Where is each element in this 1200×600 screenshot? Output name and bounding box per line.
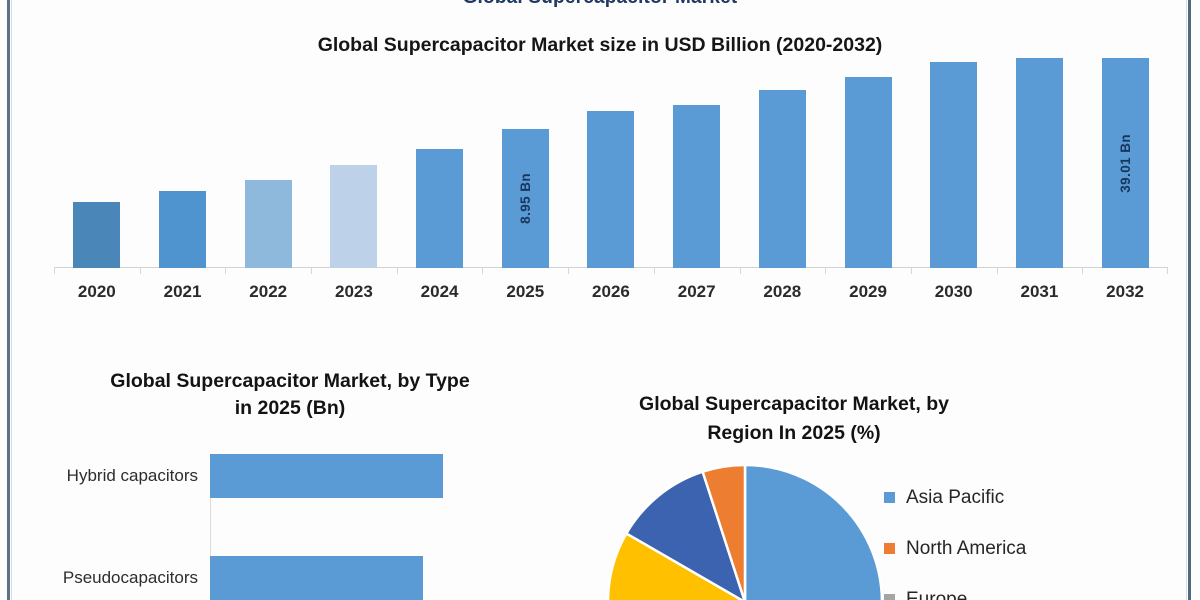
x-axis-label-2022: 2022: [225, 282, 311, 302]
legend-swatch-icon: [884, 543, 895, 554]
x-tick-2024: [397, 268, 483, 274]
bar-2031: [1016, 58, 1063, 268]
market-by-type-chart: Global Supercapacitor Market, by Type in…: [14, 368, 574, 600]
x-axis-label-2020: 2020: [54, 282, 140, 302]
legend-swatch-icon: [884, 492, 895, 503]
bar-column-2029: [825, 58, 911, 268]
legend-label: North America: [906, 538, 1026, 560]
legend-swatch-icon: [884, 594, 895, 600]
x-axis-label-2024: 2024: [397, 282, 483, 302]
market-by-region-chart: Global Supercapacitor Market, by Region …: [574, 368, 1186, 600]
slide-root: Global Supercapacitor Market Global Supe…: [0, 0, 1200, 600]
market-size-bar-chart: Global Supercapacitor Market size in USD…: [14, 22, 1186, 342]
slide-heading-cropped: Global Supercapacitor Market: [0, 0, 1200, 9]
bar-column-2024: [397, 58, 483, 268]
type-bar-row: Pseudocapacitors: [14, 556, 566, 600]
bar-column-2028: [740, 58, 826, 268]
bar-chart-plot-area: 8.95 Bn39.01 Bn 202020212022202320242025…: [54, 58, 1168, 296]
type-chart-title: Global Supercapacitor Market, by Type in…: [14, 368, 566, 422]
type-chart-title-line2: in 2025 (Bn): [14, 395, 566, 422]
x-tick-2031: [997, 268, 1083, 274]
region-pie-legend: Asia PacificNorth AmericaEurope: [884, 472, 1184, 600]
region-chart-title: Global Supercapacitor Market, by Region …: [584, 390, 1004, 448]
x-axis-label-2026: 2026: [568, 282, 654, 302]
x-tick-2021: [140, 268, 226, 274]
x-tick-2029: [825, 268, 911, 274]
type-chart-plot-area: Hybrid capacitorsPseudocapacitors: [14, 454, 566, 600]
legend-item-north-america[interactable]: North America: [884, 523, 1184, 574]
x-axis-label-2027: 2027: [654, 282, 740, 302]
legend-label: Asia Pacific: [906, 487, 1004, 509]
x-tick-2022: [225, 268, 311, 274]
x-tick-2027: [654, 268, 740, 274]
x-axis-label-2030: 2030: [911, 282, 997, 302]
x-axis-label-2023: 2023: [311, 282, 397, 302]
bar-2028: [759, 90, 806, 268]
bar-column-2021: [140, 58, 226, 268]
region-chart-title-line1: Global Supercapacitor Market, by: [584, 390, 1004, 419]
x-axis-label-2032: 2032: [1082, 282, 1168, 302]
bar-2025: 8.95 Bn: [502, 129, 549, 268]
x-axis-label-2031: 2031: [997, 282, 1083, 302]
type-chart-title-line1: Global Supercapacitor Market, by Type: [14, 368, 566, 395]
bar-column-2027: [654, 58, 740, 268]
bar-2029: [845, 77, 892, 268]
bar-2020: [73, 202, 120, 268]
bar-column-2030: [911, 58, 997, 268]
frame-border-right: [1188, 0, 1191, 600]
legend-item-europe[interactable]: Europe: [884, 574, 1184, 600]
bar-2026: [587, 111, 634, 268]
bar-column-2022: [225, 58, 311, 268]
bar-value-label-2032: 39.01 Bn: [1118, 134, 1133, 193]
bar-2023: [330, 165, 377, 268]
x-tick-2023: [311, 268, 397, 274]
bar-column-2026: [568, 58, 654, 268]
bar-column-2020: [54, 58, 140, 268]
bar-value-label-2025: 8.95 Bn: [518, 173, 533, 224]
region-pie-graphic: [595, 447, 885, 600]
type-bar-label: Pseudocapacitors: [14, 568, 204, 588]
type-bar: [210, 454, 443, 498]
x-tick-2028: [740, 268, 826, 274]
bar-2032: 39.01 Bn: [1102, 58, 1149, 268]
bar-2027: [673, 105, 720, 268]
bar-chart-title: Global Supercapacitor Market size in USD…: [14, 34, 1186, 57]
x-tick-2020: [54, 268, 140, 274]
bar-column-2025: 8.95 Bn: [482, 58, 568, 268]
legend-label: Europe: [906, 589, 967, 600]
x-tick-2030: [911, 268, 997, 274]
x-axis-label-2029: 2029: [825, 282, 911, 302]
region-chart-title-line2: Region In 2025 (%): [584, 419, 1004, 448]
pie-svg: [595, 447, 885, 600]
bar-column-2032: 39.01 Bn: [1082, 58, 1168, 268]
type-bar-label: Hybrid capacitors: [14, 466, 204, 486]
bar-chart-ticks: [54, 268, 1168, 274]
x-tick-2025: [482, 268, 568, 274]
bar-column-2031: [997, 58, 1083, 268]
x-axis-label-2025: 2025: [482, 282, 568, 302]
type-bar-row: Hybrid capacitors: [14, 454, 566, 498]
x-axis-label-2021: 2021: [140, 282, 226, 302]
pie-slice-asia-pacific: [745, 465, 882, 600]
legend-item-asia-pacific[interactable]: Asia Pacific: [884, 472, 1184, 523]
bar-2021: [159, 191, 206, 268]
bar-column-2023: [311, 58, 397, 268]
bar-chart-x-labels: 2020202120222023202420252026202720282029…: [54, 282, 1168, 302]
bar-2030: [930, 62, 977, 268]
bar-chart-bars: 8.95 Bn39.01 Bn: [54, 58, 1168, 268]
frame-inner-line-left: [11, 0, 12, 600]
bar-2022: [245, 180, 292, 268]
type-bar: [210, 556, 423, 600]
x-axis-label-2028: 2028: [740, 282, 826, 302]
frame-inner-line-right: [1186, 0, 1187, 600]
bar-2024: [416, 149, 463, 268]
frame-border-left: [7, 0, 10, 600]
x-tick-2032: [1082, 268, 1168, 274]
x-tick-2026: [568, 268, 654, 274]
